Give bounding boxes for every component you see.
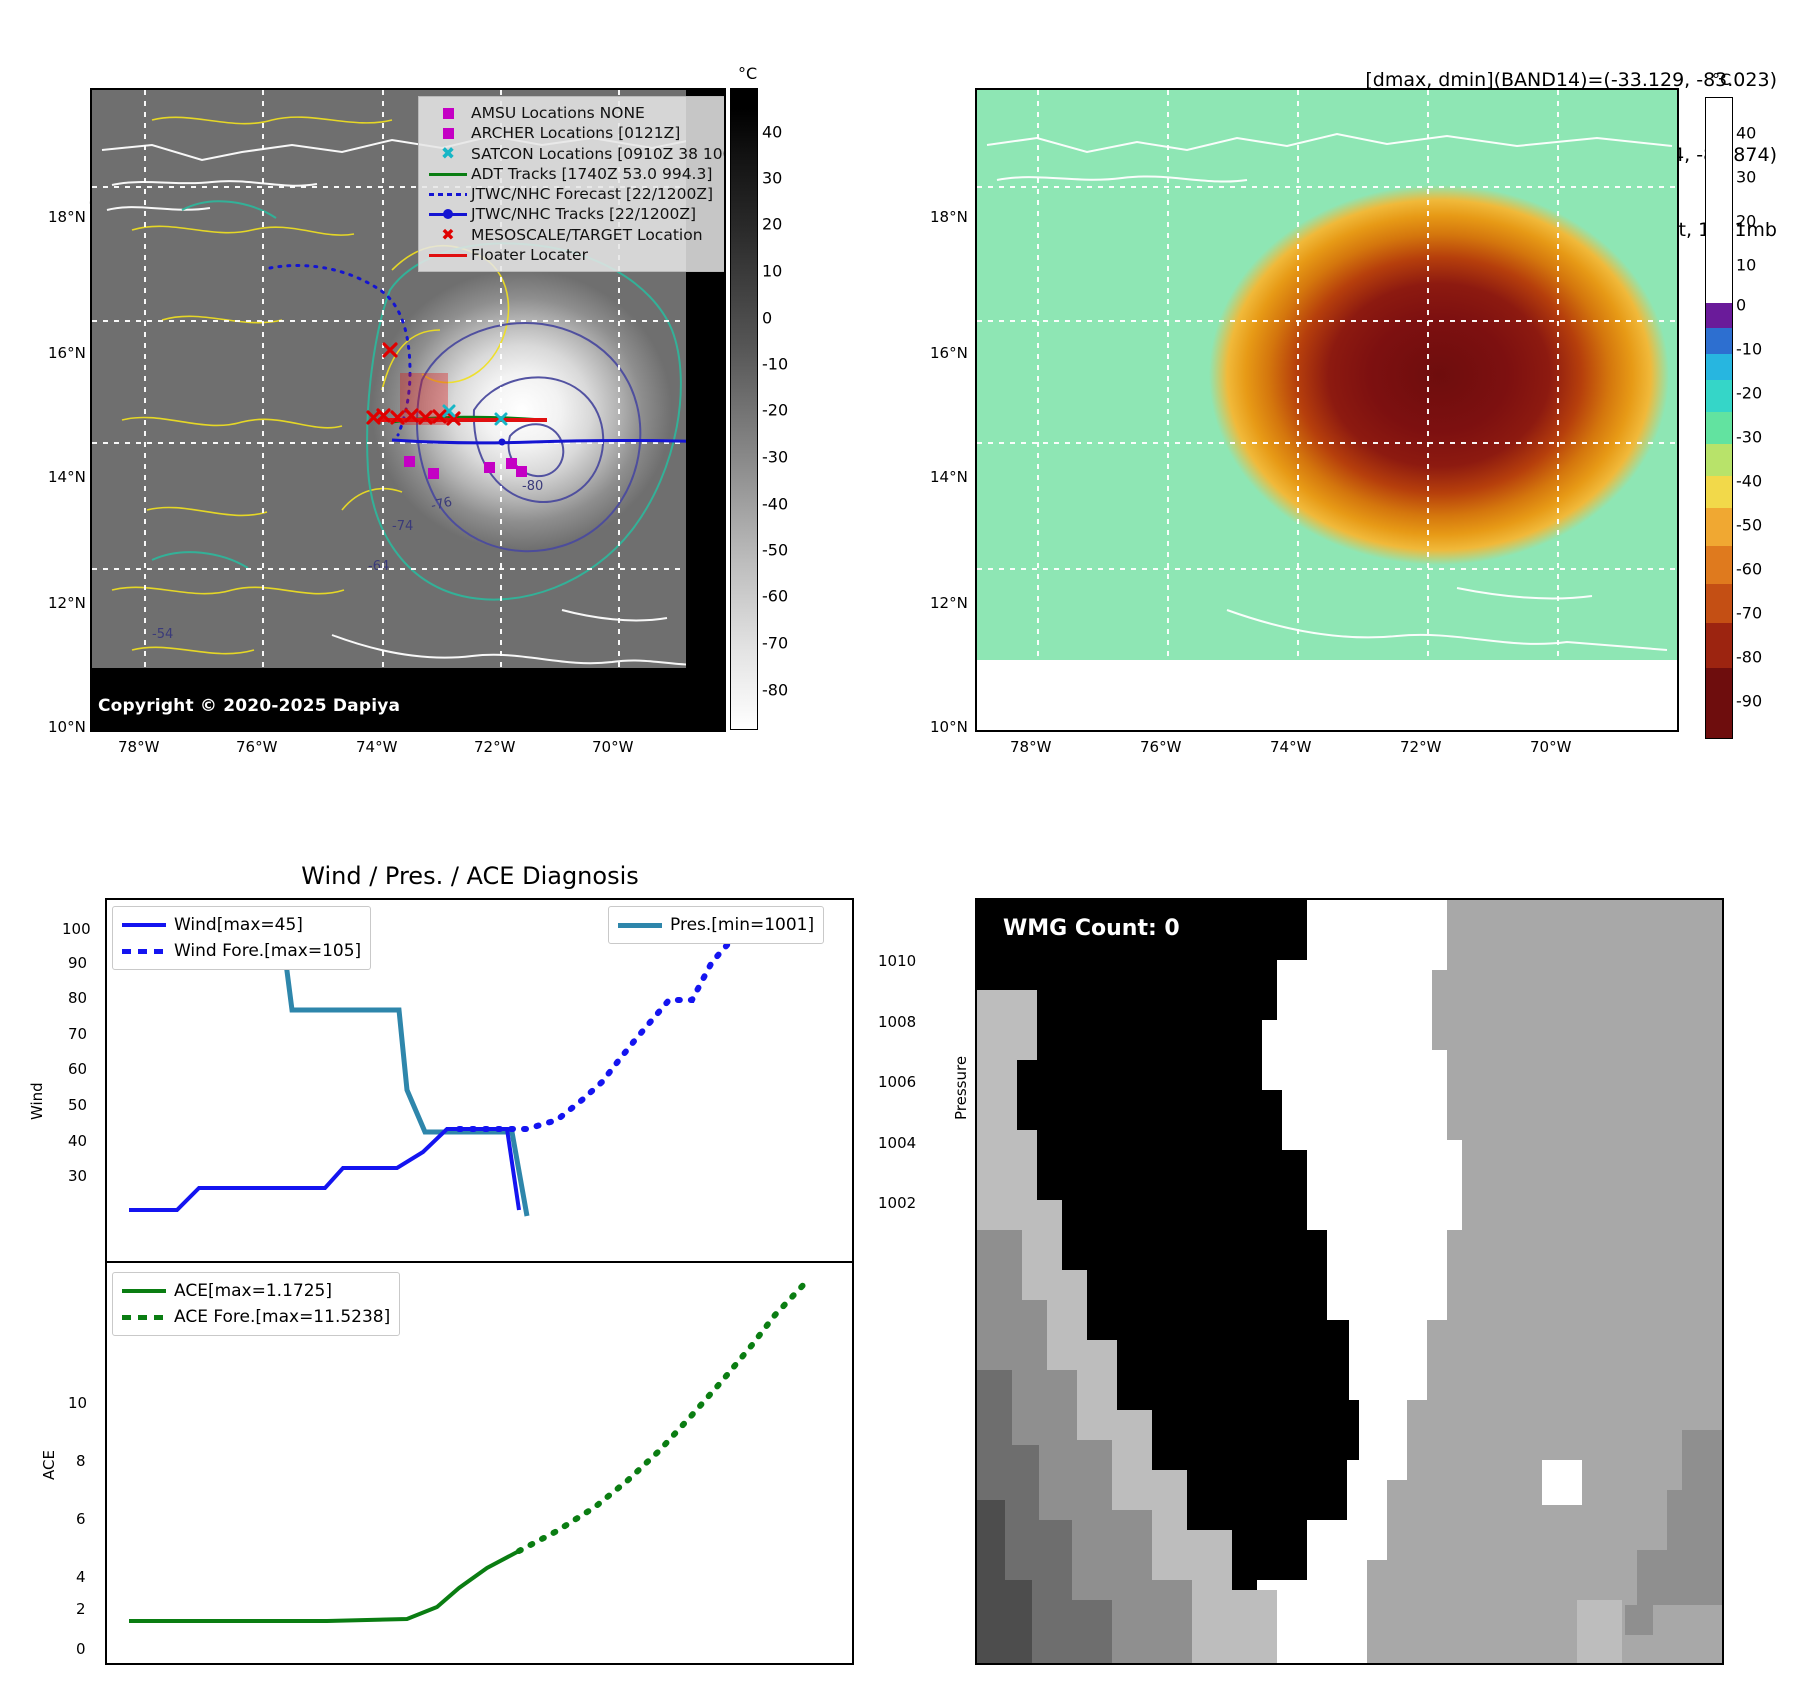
solid-line-icon [425, 173, 471, 176]
grid-line-horizontal [977, 568, 1677, 570]
cb-tick: -50 [762, 541, 788, 560]
legend-item-pressure[interactable]: Pres.[min=1001] [618, 912, 814, 938]
pressure-y-tick: 1008 [878, 1013, 916, 1031]
cb-tick: -10 [1736, 340, 1762, 359]
cb-tick: -70 [1736, 604, 1762, 623]
wind-y-tick: 100 [62, 920, 91, 938]
ace-y-tick: 0 [76, 1640, 86, 1658]
grid-line-horizontal [92, 442, 724, 444]
legend-item-ace[interactable]: ACE[max=1.1725] [122, 1278, 390, 1304]
dotted-line-icon [425, 193, 471, 196]
wind-y-tick: 30 [68, 1167, 87, 1185]
wind-axis-label: Wind [28, 1082, 46, 1120]
square-marker-icon [425, 108, 471, 119]
lon-tick: 76°W [1140, 738, 1181, 756]
cb-tick: 10 [1736, 256, 1756, 275]
legend-item-mesoscale-target[interactable]: ✖ MESOSCALE/TARGET Location [425, 225, 725, 245]
legend-label: Floater Locater [471, 245, 588, 265]
legend-label: Wind[max=45] [174, 912, 303, 938]
lat-tick: 16°N [48, 344, 86, 362]
solid-line-icon [122, 923, 174, 927]
legend-label: JTWC/NHC Forecast [22/1200Z] [471, 184, 713, 204]
map-legend[interactable]: AMSU Locations NONE ARCHER Locations [01… [418, 96, 726, 272]
legend-item-adt[interactable]: ADT Tracks [1740Z 53.0 994.3] [425, 164, 725, 184]
lon-tick: 78°W [118, 738, 159, 756]
awv-mesoscale-panel[interactable] [975, 88, 1679, 732]
grid-line-horizontal [977, 320, 1677, 322]
grid-line-horizontal [92, 320, 724, 322]
pressure-y-tick: 1004 [878, 1134, 916, 1152]
legend-label: ACE[max=1.1725] [174, 1278, 332, 1304]
legend-label: JTWC/NHC Tracks [22/1200Z] [471, 204, 696, 224]
wmg-count-badge: WMG Count: 0 [991, 910, 1194, 949]
pressure-y-tick: 1002 [878, 1194, 916, 1212]
cb-tick: -50 [1736, 516, 1762, 535]
wmg-panel[interactable]: WMG Count: 0 [975, 898, 1724, 1665]
legend-item-floater-locater[interactable]: Floater Locater [425, 245, 725, 265]
pressure-y-tick: 1010 [878, 952, 916, 970]
line-with-dot-icon [425, 213, 471, 216]
lat-tick: 14°N [930, 468, 968, 486]
ace-axis-label: ACE [40, 1450, 58, 1480]
colorbar-right-unit: °C [1712, 70, 1731, 89]
legend-label: Pres.[min=1001] [670, 912, 814, 938]
cb-tick: 20 [1736, 212, 1756, 231]
colorbar-left-unit: °C [738, 64, 757, 83]
wind-y-tick: 40 [68, 1132, 87, 1150]
cb-tick: -90 [1736, 692, 1762, 711]
lat-tick: 10°N [48, 718, 86, 736]
lat-tick: 10°N [930, 718, 968, 736]
ace-chart-legend[interactable]: ACE[max=1.1725] ACE Fore.[max=11.5238] [112, 1272, 400, 1336]
wmg-raster [977, 900, 1722, 1663]
ace-y-tick: 8 [76, 1452, 86, 1470]
wind-y-tick: 50 [68, 1096, 87, 1114]
solid-line-icon [425, 254, 471, 257]
ace-y-tick: 10 [68, 1394, 87, 1412]
wind-y-tick: 60 [68, 1060, 87, 1078]
lat-tick: 16°N [930, 344, 968, 362]
legend-label: ACE Fore.[max=11.5238] [174, 1304, 390, 1330]
legend-item-amsu[interactable]: AMSU Locations NONE [425, 103, 725, 123]
legend-label: ADT Tracks [1740Z 53.0 994.3] [471, 164, 712, 184]
legend-item-satcon[interactable]: ✖ SATCON Locations [0910Z 38 1001] [425, 144, 725, 164]
legend-item-jtwc-forecast[interactable]: JTWC/NHC Forecast [22/1200Z] [425, 184, 725, 204]
wind-y-tick: 70 [68, 1025, 87, 1043]
colorbar-left-ticks: 40 30 20 10 0 -10 -20 -30 -40 -50 -60 -7… [762, 88, 822, 728]
legend-item-wind[interactable]: Wind[max=45] [122, 912, 361, 938]
cb-tick: -20 [1736, 384, 1762, 403]
lon-tick: 76°W [236, 738, 277, 756]
cb-tick: -30 [1736, 428, 1762, 447]
ace-y-tick: 2 [76, 1600, 86, 1618]
x-marker-icon: ✖ [425, 149, 471, 159]
cb-tick: -80 [762, 681, 788, 700]
grid-line-horizontal [977, 442, 1677, 444]
wind-chart-legend[interactable]: Wind[max=45] Wind Fore.[max=105] [112, 906, 371, 970]
colorbar-right-ticks: 40 30 20 10 0 -10 -20 -30 -40 -50 -60 -7… [1736, 97, 1796, 737]
panel-bottom-white-mask [977, 660, 1677, 730]
cb-tick: -60 [1736, 560, 1762, 579]
cb-tick: 20 [762, 215, 782, 234]
grid-line-horizontal [977, 186, 1677, 188]
lon-tick: 70°W [1530, 738, 1571, 756]
dotted-line-icon [122, 1315, 174, 1320]
cb-tick: 40 [762, 123, 782, 142]
square-marker-icon [425, 128, 471, 139]
legend-item-wind-forecast[interactable]: Wind Fore.[max=105] [122, 938, 361, 964]
legend-label: MESOSCALE/TARGET Location [471, 225, 703, 245]
wind-y-tick: 80 [68, 989, 87, 1007]
pressure-chart-legend[interactable]: Pres.[min=1001] [608, 906, 824, 944]
lat-tick: 18°N [48, 208, 86, 226]
cb-tick: -40 [762, 495, 788, 514]
cb-tick: -20 [762, 401, 788, 420]
cb-tick: 0 [762, 309, 772, 328]
ir-mesoscale-panel[interactable]: -76 -74 -64 -54 -80 [90, 88, 726, 732]
ace-y-tick: 6 [76, 1510, 86, 1528]
dotted-line-icon [122, 949, 174, 954]
awv-imagery [977, 90, 1677, 660]
lon-tick: 72°W [1400, 738, 1441, 756]
lat-tick: 14°N [48, 468, 86, 486]
pressure-y-tick: 1006 [878, 1073, 916, 1091]
red-x-marker-icon: ✖ [425, 230, 471, 240]
wind-y-tick: 90 [68, 954, 87, 972]
legend-item-ace-forecast[interactable]: ACE Fore.[max=11.5238] [122, 1304, 390, 1330]
dashboard-root: GOES-19 BAND14-DIAS MESOSCALE Time: 2025… [0, 0, 1797, 1690]
legend-label: SATCON Locations [0910Z 38 1001] [471, 144, 726, 164]
legend-item-archer[interactable]: ARCHER Locations [0121Z] [425, 123, 725, 143]
lon-tick: 78°W [1010, 738, 1051, 756]
solid-line-icon [618, 923, 670, 928]
ace-y-tick: 4 [76, 1568, 86, 1586]
lat-tick: 18°N [930, 208, 968, 226]
cb-tick: 40 [1736, 124, 1756, 143]
cb-tick: -30 [762, 448, 788, 467]
legend-label: AMSU Locations NONE [471, 103, 645, 123]
cb-tick: 10 [762, 262, 782, 281]
legend-label: ARCHER Locations [0121Z] [471, 123, 680, 143]
cb-tick: -70 [762, 634, 788, 653]
cb-tick: 30 [1736, 168, 1756, 187]
diagnosis-title: Wind / Pres. / ACE Diagnosis [90, 862, 850, 890]
legend-item-jtwc-tracks[interactable]: JTWC/NHC Tracks [22/1200Z] [425, 204, 725, 224]
grid-line-horizontal [92, 568, 724, 570]
lon-tick: 72°W [474, 738, 515, 756]
lat-tick: 12°N [930, 594, 968, 612]
legend-label: Wind Fore.[max=105] [174, 938, 361, 964]
cb-tick: -60 [762, 587, 788, 606]
cb-tick: -10 [762, 355, 788, 374]
cb-tick: -40 [1736, 472, 1762, 491]
colorbar-left[interactable] [730, 88, 758, 730]
copyright-text: Copyright © 2020-2025 Dapiya [98, 696, 400, 716]
lat-tick: 12°N [48, 594, 86, 612]
cb-tick: -80 [1736, 648, 1762, 667]
lon-tick: 74°W [356, 738, 397, 756]
lon-tick: 74°W [1270, 738, 1311, 756]
lon-tick: 70°W [592, 738, 633, 756]
pressure-axis-label: Pressure [952, 1056, 970, 1120]
cb-tick: 30 [762, 169, 782, 188]
solid-line-icon [122, 1289, 174, 1293]
colorbar-right[interactable] [1705, 97, 1733, 739]
cb-tick: 0 [1736, 296, 1746, 315]
